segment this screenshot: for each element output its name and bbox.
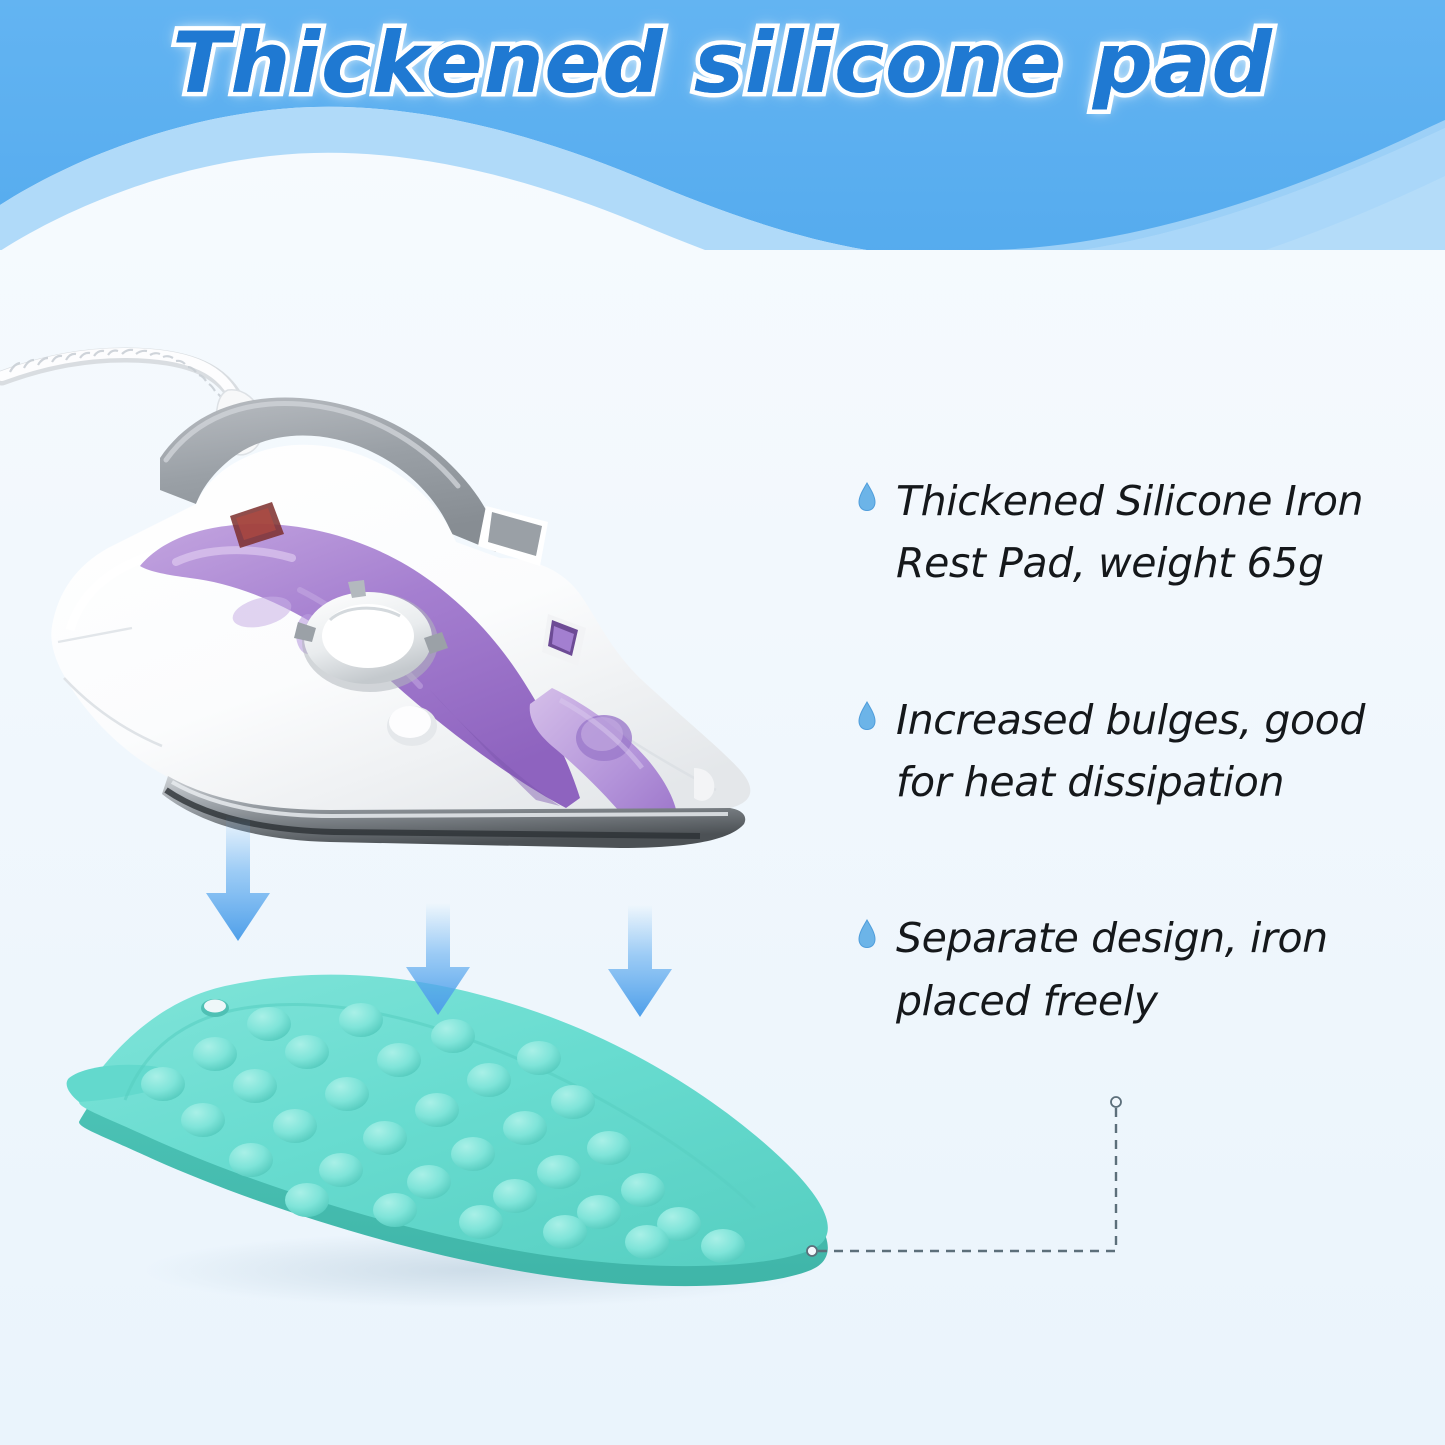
- feature-item: Thickened Silicone Iron Rest Pad, weight…: [858, 470, 1428, 595]
- iron-droplet-icon: [858, 919, 876, 949]
- product-infographic: Thickened silicone pad Thickened silicon…: [0, 0, 1445, 1445]
- feature-text: Separate design, iron placed freely: [896, 907, 1416, 1032]
- header-banner: Thickened silicone pad Thickened silicon…: [0, 0, 1445, 250]
- arrow-2: [406, 903, 470, 1015]
- feature-item: Separate design, iron placed freely: [858, 907, 1428, 1032]
- spray-button: [387, 706, 437, 746]
- feature-list: Thickened Silicone Iron Rest Pad, weight…: [858, 470, 1428, 1032]
- feature-text: Thickened Silicone Iron Rest Pad, weight…: [896, 470, 1416, 595]
- arrow-3: [608, 905, 672, 1017]
- arrow-1: [206, 815, 270, 941]
- iron-droplet-icon: [858, 482, 876, 512]
- placement-arrows: [170, 815, 730, 1025]
- iron-droplet-icon: [858, 701, 876, 731]
- feature-item: Increased bulges, good for heat dissipat…: [858, 689, 1428, 814]
- dimension-callout: [780, 1080, 1180, 1300]
- page-title: Thickened silicone pad: [0, 14, 1445, 112]
- feature-text: Increased bulges, good for heat dissipat…: [896, 689, 1416, 814]
